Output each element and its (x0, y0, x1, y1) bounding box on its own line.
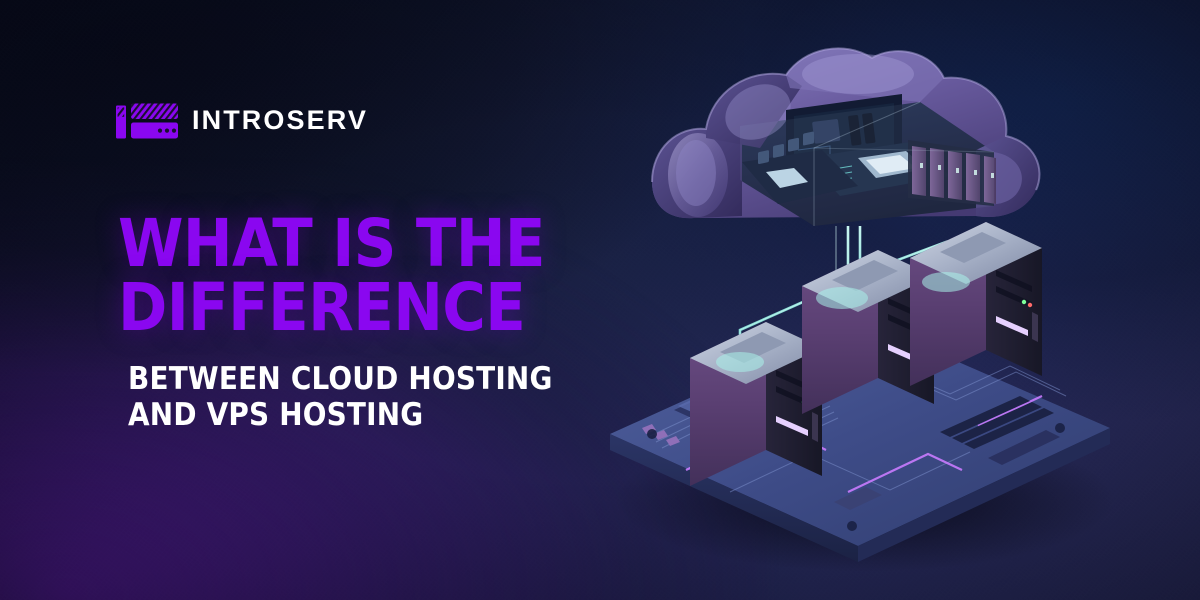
logo[interactable]: INTROSERV (116, 100, 368, 140)
server-tower-right (910, 222, 1042, 386)
page-subtitle: BETWEEN CLOUD HOSTING AND VPS HOSTING (128, 362, 668, 434)
cutaway-cloud (652, 48, 1039, 226)
cloud-hosting-vs-vps-3d-scene (590, 30, 1130, 575)
subhead-line-2: AND VPS HOSTING (128, 398, 668, 434)
logo-wordmark: INTROSERV (192, 107, 368, 134)
subhead-line-1: BETWEEN CLOUD HOSTING (128, 362, 668, 398)
introserv-server-mark-icon (116, 100, 178, 140)
banner: INTROSERV WHAT IS THE DIFFERENCE BETWEEN… (0, 0, 1200, 600)
